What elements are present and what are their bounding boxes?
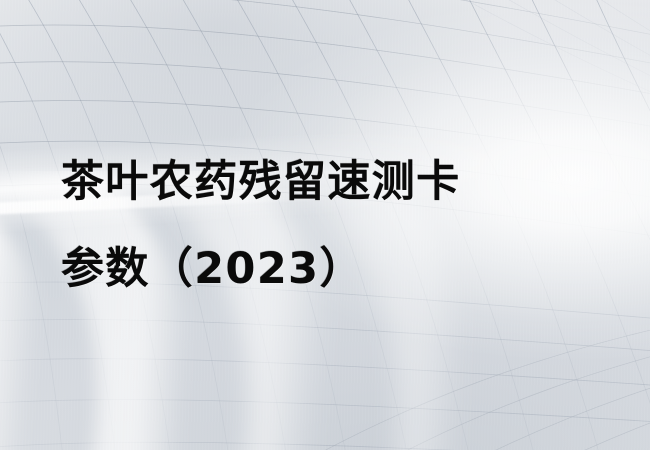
title-line-1: 茶叶农药残留速测卡: [61, 139, 621, 226]
banner-image: 茶叶农药残留速测卡 参数（2023）: [0, 0, 650, 450]
banner-title: 茶叶农药残留速测卡 参数（2023）: [61, 139, 621, 313]
title-line-2: 参数（2023）: [61, 226, 621, 313]
